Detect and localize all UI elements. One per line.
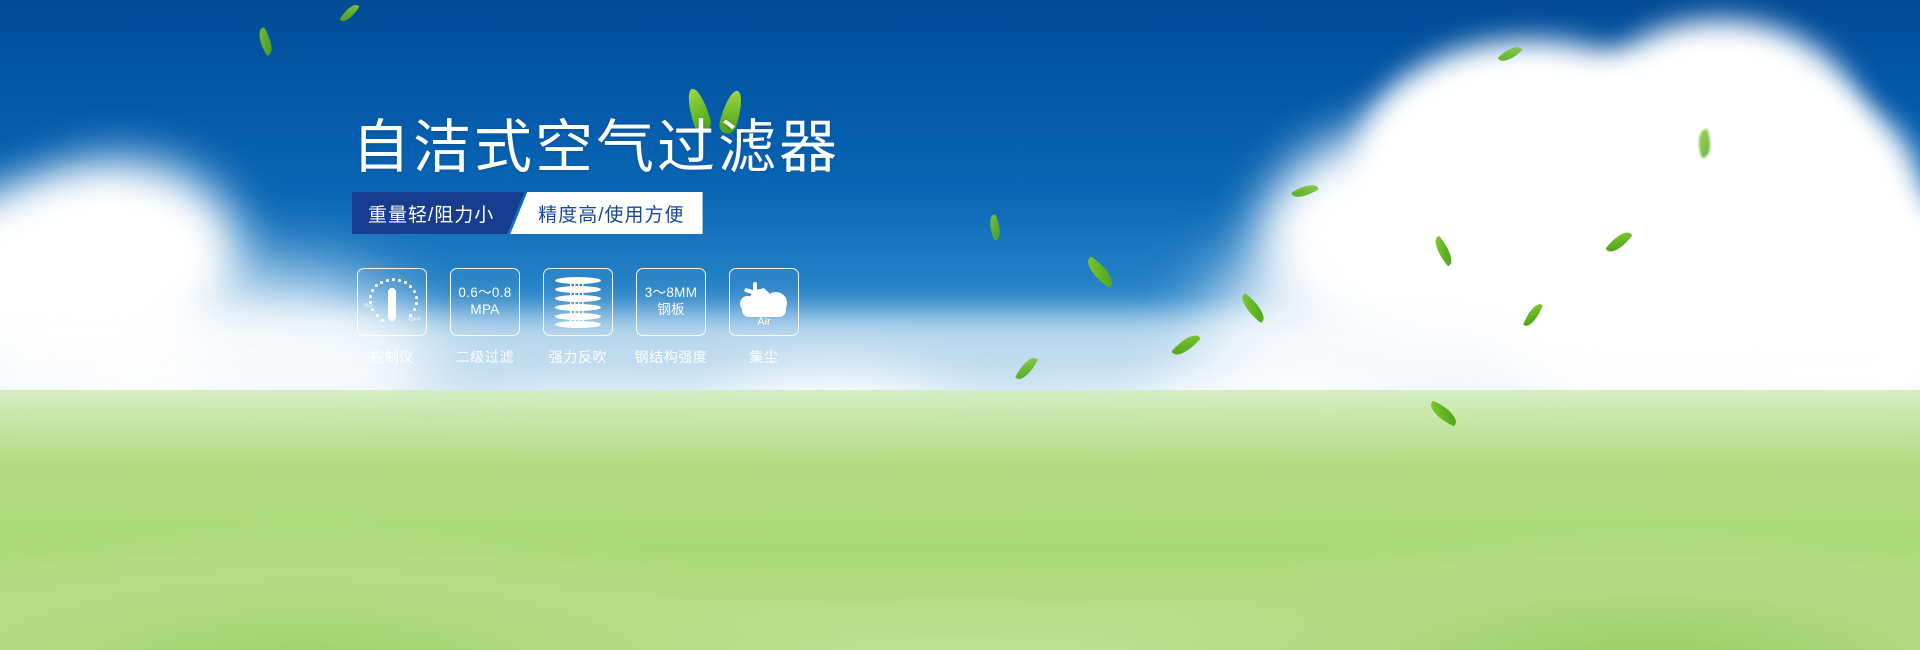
feature-item-blowback: 强力反吹 <box>543 268 613 367</box>
page-title: 自洁式空气过滤器 <box>352 118 840 176</box>
feature-icon-box: 3～8MM 钢板 <box>636 268 706 336</box>
steel-plate-text-icon: 3～8MM 钢板 <box>645 285 698 319</box>
gauge-needle <box>388 288 396 321</box>
feature-caption: 钢结构强度 <box>635 347 708 367</box>
gauge-icon: NO OFF <box>364 277 420 327</box>
gauge-label-off: OFF <box>409 317 421 323</box>
feature-item-steel: 3～8MM 钢板 钢结构强度 <box>636 268 706 367</box>
air-cloud-icon: Air <box>737 278 791 326</box>
feature-icon-box: NO OFF <box>357 268 427 336</box>
gauge-label-no: NO <box>364 303 373 309</box>
feature-item-dust: Air 集尘 <box>729 268 799 367</box>
tagline-row: 重量轻/阻力小 精度高/使用方便 <box>352 192 703 234</box>
feature-caption: 二级过滤 <box>456 347 514 367</box>
pressure-text-icon: 0.6～0.8 MPA <box>458 285 511 319</box>
feature-icon-box <box>543 268 613 336</box>
feature-caption: 强力反吹 <box>549 347 607 367</box>
tag-badge-primary: 重量轻/阻力小 <box>352 192 524 234</box>
tag-badge-secondary: 精度高/使用方便 <box>510 192 702 234</box>
filter-pleats-icon <box>555 276 601 328</box>
feature-icon-box: Air <box>729 268 799 336</box>
feature-icon-box: 0.6～0.8 MPA <box>450 268 520 336</box>
feature-caption: 集尘 <box>749 347 778 367</box>
feature-item-controller: NO OFF 控制仪 <box>357 268 427 367</box>
feature-list: NO OFF 控制仪 0.6～0.8 MPA 二级过滤 <box>357 268 799 367</box>
feature-item-pressure: 0.6～0.8 MPA 二级过滤 <box>450 268 520 367</box>
product-banner: 自洁式空气过滤器 重量轻/阻力小 精度高/使用方便 <box>0 0 1920 650</box>
feature-caption: 控制仪 <box>370 347 414 367</box>
air-label: Air <box>737 316 791 328</box>
